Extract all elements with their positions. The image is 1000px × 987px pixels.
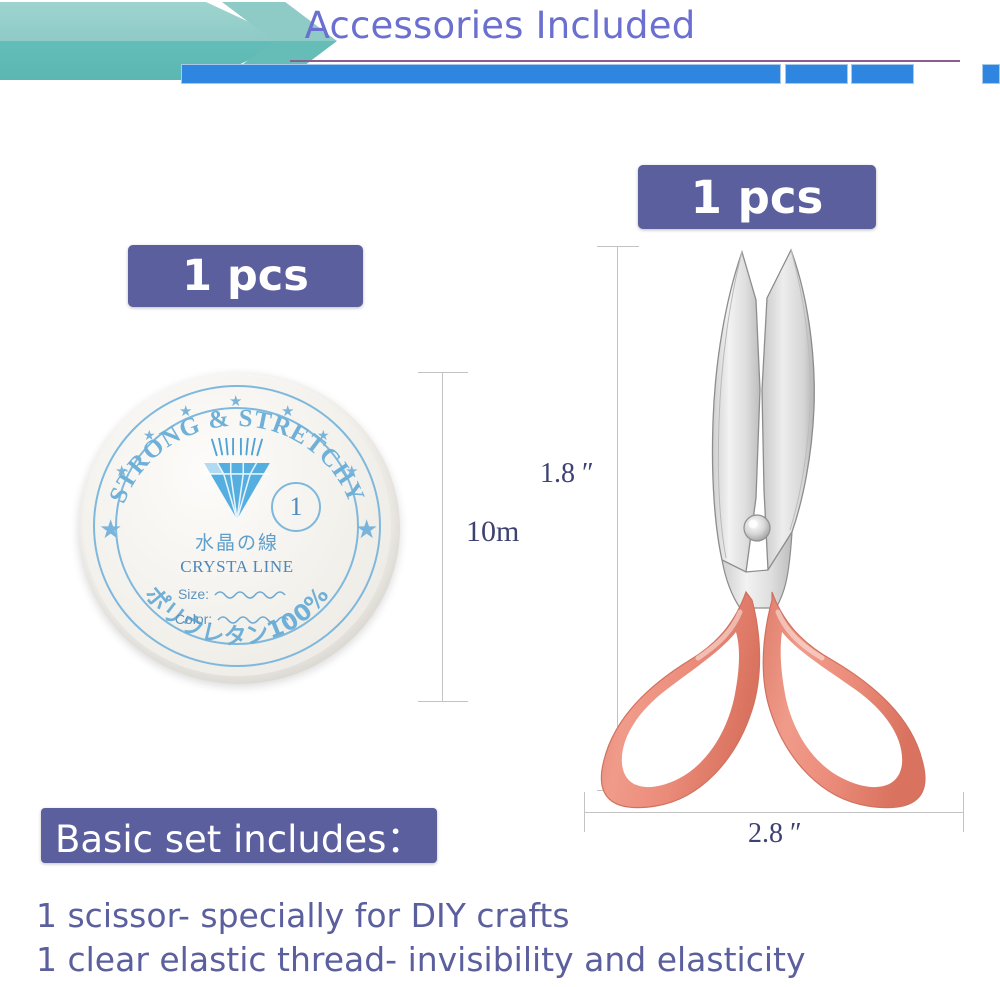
- spool-size-field: Size:: [83, 586, 391, 602]
- header-bar-segment-3: [851, 64, 914, 84]
- header-banner: Accessories Included: [0, 0, 1000, 95]
- dimension-line-scissor-horizontal: [584, 812, 964, 813]
- scissor-blade-right: [762, 250, 814, 570]
- spool-japanese-name: 水晶の線: [83, 528, 391, 555]
- dimension-tick-thread-top: [418, 372, 468, 373]
- star-icon: ★: [317, 428, 330, 442]
- quantity-badge-scissors: 1 pcs: [638, 165, 876, 229]
- rivet-highlight: [749, 520, 758, 529]
- basic-set-item-2: 1 clear elastic thread- invisibility and…: [36, 940, 805, 979]
- spool-brand-name: CRYSTA LINE: [83, 557, 391, 577]
- spool-color-field: Color:: [83, 611, 391, 627]
- star-icon: ★: [281, 404, 294, 419]
- scissor-handle-right: [763, 592, 925, 808]
- header-divider-rule: [290, 60, 960, 62]
- wavy-line-icon: [217, 614, 299, 624]
- header-bar-segment-1: [181, 64, 781, 84]
- quantity-badge-thread: 1 pcs: [128, 245, 363, 307]
- diamond-icon: [194, 438, 280, 524]
- header-bar-segment-2: [785, 64, 848, 84]
- scissor-handle-left: [601, 592, 759, 808]
- dimension-tick-thread-bottom: [418, 701, 468, 702]
- header-bar-segment-4: [982, 64, 1000, 84]
- page-title: Accessories Included: [0, 4, 1000, 47]
- elastic-thread-spool: STRONG & STRETCHY ポリウレタン100% ★ ★ ★ ★ ★ ★…: [78, 372, 408, 690]
- star-icon: ★: [143, 428, 156, 442]
- thread-snips-image: [560, 240, 990, 812]
- star-icon: ★: [229, 394, 242, 409]
- wavy-line-icon: [214, 589, 296, 599]
- dimension-label-scissor-width: 2.8 ″: [748, 818, 802, 850]
- basic-set-heading: Basic set includes：: [41, 808, 437, 863]
- star-icon: ★: [345, 464, 358, 479]
- spool-number-badge: 1: [271, 482, 321, 532]
- spool-color-label: Color:: [175, 611, 212, 627]
- scissor-rivet: [744, 515, 770, 541]
- basic-set-item-1: 1 scissor- specially for DIY crafts: [36, 896, 570, 935]
- spool-center-text: 水晶の線 CRYSTA LINE Size: Color:: [83, 528, 391, 627]
- spool-size-label: Size:: [178, 586, 209, 602]
- star-icon: ★: [115, 464, 128, 479]
- spool-label-face: STRONG & STRETCHY ポリウレタン100% ★ ★ ★ ★ ★ ★…: [83, 376, 391, 676]
- spool-arc-text-svg: STRONG & STRETCHY ポリウレタン100%: [83, 376, 391, 676]
- dimension-label-thread-length: 10m: [466, 515, 519, 549]
- dimension-line-thread-vertical: [442, 372, 443, 702]
- star-icon: ★: [179, 404, 192, 419]
